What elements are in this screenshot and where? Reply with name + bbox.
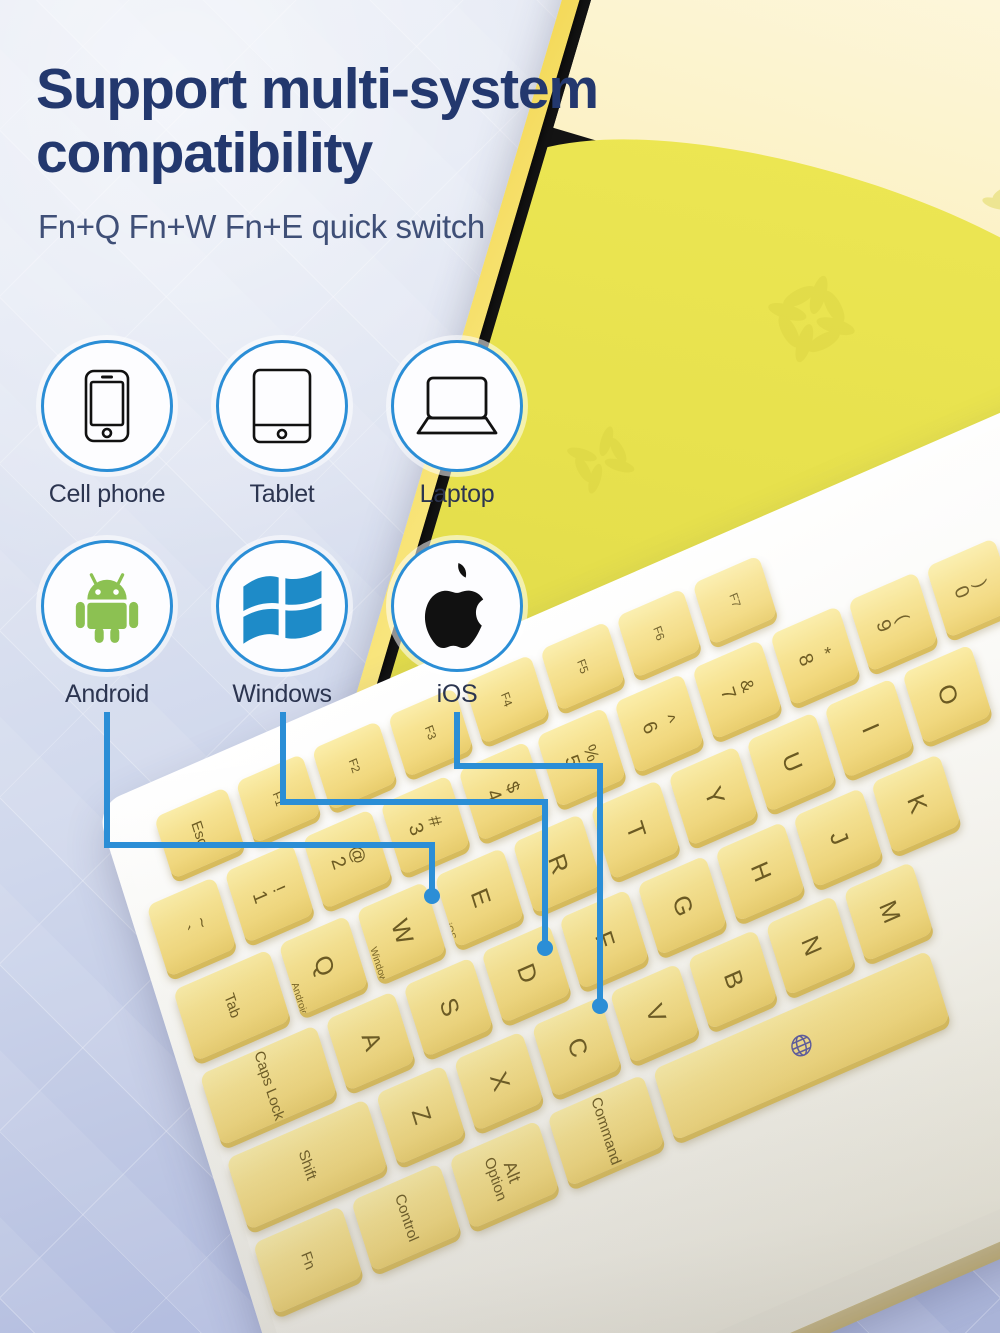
key-t-label: T: [622, 818, 650, 843]
key-9-shift-label: (: [894, 611, 912, 624]
key-s-label: S: [434, 994, 462, 1020]
key-8-shift-label: *: [816, 644, 835, 658]
key-tab-label: Tab: [221, 991, 242, 1020]
key-o-label: O: [933, 680, 962, 709]
key-shift-label: Shift: [296, 1147, 319, 1182]
key-r-label: R: [543, 850, 571, 877]
badge-cell-phone-label: Cell phone: [49, 480, 166, 509]
key-1-label: 1: [249, 888, 271, 907]
key-a-label: A: [356, 1028, 384, 1054]
key-q-sublabel: Android: [289, 981, 310, 1016]
key-z-label: Z: [407, 1103, 435, 1128]
key-m-label: M: [874, 897, 903, 927]
key-6-shift-label: ^: [660, 712, 679, 727]
globe-icon: [786, 1028, 818, 1063]
key-fn-label: Fn: [298, 1249, 317, 1272]
key-e-label: E: [465, 885, 493, 911]
key-e-sublabel: iOS: [442, 922, 457, 942]
key-5-shift-label: %: [581, 742, 602, 765]
key-7-label: 7: [717, 684, 739, 703]
key-f4-label: F4: [499, 690, 514, 708]
key-f-label: F: [590, 927, 618, 952]
badge-laptop[interactable]: Laptop: [391, 340, 523, 472]
tablet-icon: [252, 368, 312, 444]
key-w-sublabel: Windows: [367, 946, 389, 982]
key-j-label: J: [825, 827, 852, 849]
key-7-shift-label: &: [737, 676, 757, 695]
key-f2-label: F2: [347, 757, 362, 775]
badge-ios-label: iOS: [437, 680, 478, 709]
badge-android-label: Android: [65, 680, 149, 709]
key-b-label: B: [719, 967, 747, 993]
key-g-label: G: [668, 891, 697, 920]
key-w-label: W: [386, 915, 416, 948]
key-f1-label: F1: [271, 790, 286, 808]
badge-ios[interactable]: iOS: [391, 540, 523, 672]
key-u-label: U: [777, 748, 805, 775]
key-x-label: X: [485, 1068, 513, 1094]
key-0-label: 0: [951, 583, 973, 602]
key-caps-lock-label: Caps Lock: [251, 1048, 286, 1122]
key-backtick-shift-label: ~: [192, 914, 212, 931]
key-0-shift-label: ): [972, 577, 990, 590]
badge-cell-phone[interactable]: Cell phone: [41, 340, 173, 472]
key-6-label: 6: [639, 718, 661, 737]
phone-icon: [84, 369, 130, 443]
key-c-label: C: [563, 1034, 591, 1061]
badge-android[interactable]: Android: [41, 540, 173, 672]
key-d-label: D: [512, 960, 540, 987]
laptop-icon: [416, 375, 498, 437]
key-2-label: 2: [327, 854, 349, 873]
key-f5-label: F5: [575, 657, 590, 675]
product-image-canvas: Esc F1 F2 F3 F4 F5 F6 F7: [0, 0, 1000, 1333]
badge-windows[interactable]: Windows: [216, 540, 348, 672]
key-5-label: 5: [561, 752, 583, 771]
badge-windows-label: Windows: [232, 680, 331, 709]
key-3-label: 3: [405, 820, 427, 839]
key-control-label: Control: [392, 1191, 420, 1243]
key-f7-label: F7: [727, 591, 742, 609]
key-h-label: H: [746, 858, 774, 885]
page-subtitle: Fn+Q Fn+W Fn+E quick switch: [38, 208, 485, 246]
key-i-label: I: [857, 720, 882, 737]
key-k-label: K: [902, 791, 930, 817]
key-command-label: Command: [589, 1094, 624, 1166]
key-9-label: 9: [873, 617, 895, 636]
key-backtick-label: `: [172, 924, 192, 938]
key-1-shift-label: !: [271, 883, 289, 895]
key-esc-label: Esc: [189, 818, 210, 848]
key-4-label: 4: [483, 786, 505, 805]
key-f3-label: F3: [423, 723, 438, 741]
key-n-label: N: [796, 932, 824, 959]
android-icon: [66, 565, 148, 647]
key-q-label: Q: [309, 951, 338, 980]
key-3-shift-label: #: [426, 812, 446, 829]
windows-icon: [240, 568, 324, 644]
key-y-label: Y: [699, 783, 727, 809]
badge-laptop-label: Laptop: [420, 480, 495, 509]
key-f6-label: F6: [651, 624, 666, 642]
badge-tablet-label: Tablet: [250, 480, 315, 509]
key-8-label: 8: [795, 650, 817, 669]
key-4-shift-label: $: [504, 779, 524, 796]
apple-icon: [420, 563, 494, 649]
page-title: Support multi-system compatibility: [36, 58, 696, 186]
key-v-label: V: [641, 1000, 669, 1026]
badge-tablet[interactable]: Tablet: [216, 340, 348, 472]
